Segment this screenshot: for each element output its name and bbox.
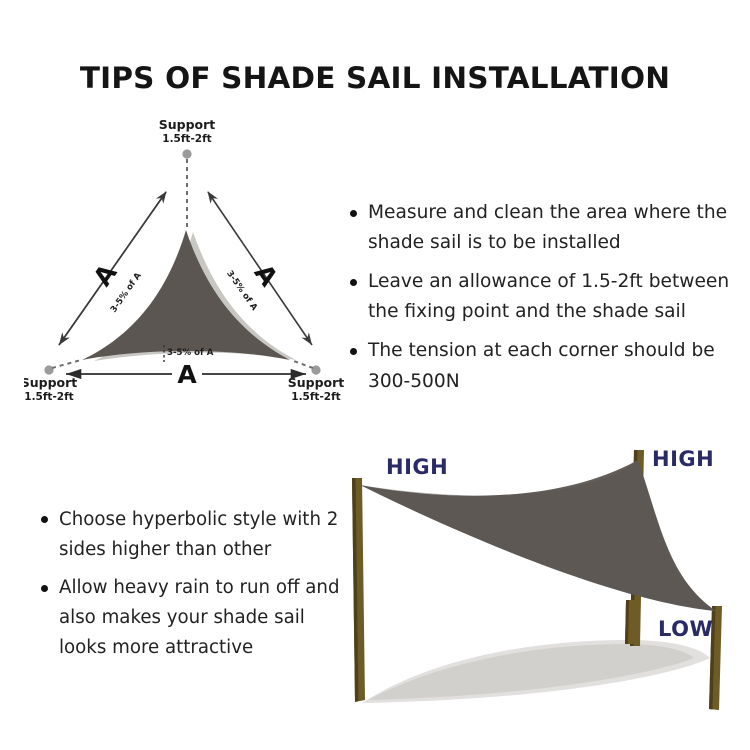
side-note-bottom-pct: 3-5% of A [167,348,214,358]
support-bottom-right-dimension: 1.5ft-2ft [291,391,340,403]
list-item: Leave an allowance of 1.5-2ft between th… [349,267,741,327]
corner-label-high-left: HIGH [386,455,448,479]
support-bottom-left-dimension: 1.5ft-2ft [24,391,73,403]
list-item: Measure and clean the area where the sha… [349,198,741,258]
support-bottom-right-dashed-line [291,360,313,368]
support-bottom-left-anchor-dot [44,365,53,374]
hyperbolic-sail [360,460,716,611]
hyperbolic-shade-sail-diagram: HIGH HIGH LOW [338,428,750,720]
support-bottom-right-anchor-dot [311,365,320,374]
tips-list-bottom: Choose hyperbolic style with 2 sides hig… [40,505,345,671]
support-top-label: Support [159,117,216,132]
tips-list-top: Measure and clean the area where the sha… [349,198,741,406]
triangle-shade-sail-diagram: Support 1.5ft-2ft Support 1.5ft-2ft Supp… [24,112,354,412]
support-top-dimension: 1.5ft-2ft [162,133,211,145]
list-item: The tension at each corner should be 300… [349,336,741,396]
list-item: Choose hyperbolic style with 2 sides hig… [40,505,345,564]
list-item: Allow heavy rain to run off and also mak… [40,573,345,662]
page-title: TIPS OF SHADE SAIL INSTALLATION [0,61,750,95]
support-bottom-left-dashed-line [52,360,81,368]
side-label-right-a: A [249,259,284,292]
support-top-anchor-dot [182,149,191,158]
side-label-bottom-a: A [177,360,197,389]
support-bottom-right-label: Support [288,375,345,390]
support-bottom-left-label: Support [24,375,77,390]
side-label-left-a: A [88,258,123,291]
corner-label-low: LOW [658,617,713,641]
corner-label-high-right: HIGH [652,447,714,471]
triangular-sail [82,230,290,360]
